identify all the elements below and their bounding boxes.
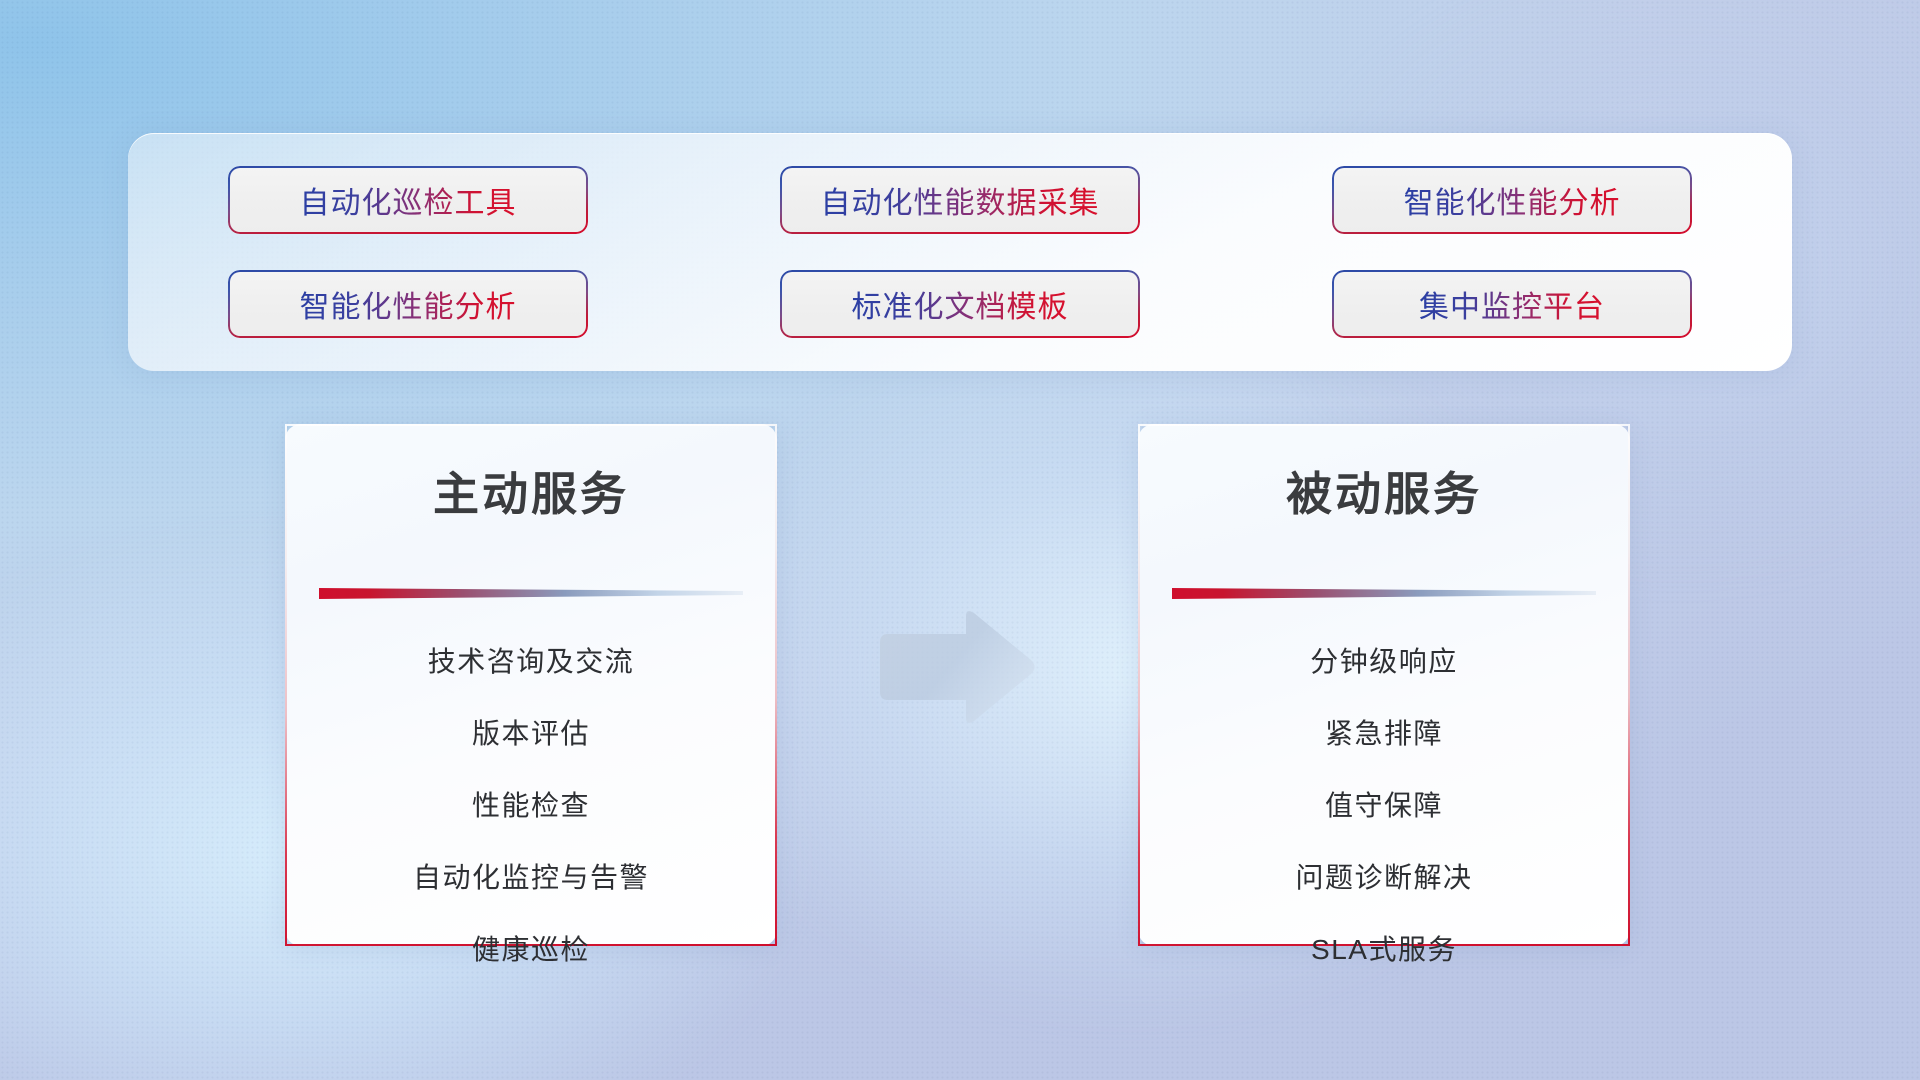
service-list-item: 值守保障 bbox=[1325, 770, 1443, 842]
service-list-item: 问题诊断解决 bbox=[1295, 842, 1472, 914]
capability-chip[interactable]: 智能化性能分析 bbox=[1332, 166, 1692, 234]
active-service-divider bbox=[319, 586, 743, 600]
capability-chip[interactable]: 智能化性能分析 bbox=[228, 270, 588, 338]
capability-chip-label: 智能化性能分析 bbox=[1404, 178, 1621, 222]
passive-service-divider bbox=[1172, 586, 1596, 600]
service-list-item: 分钟级响应 bbox=[1310, 626, 1458, 698]
capability-chip-label: 自动化性能数据采集 bbox=[821, 178, 1100, 222]
service-list-item: 健康巡检 bbox=[472, 914, 590, 986]
active-service-card-body: 主动服务 技术咨询及交流 版本评估 性能检查 bbox=[287, 426, 775, 944]
capability-chip-label: 自动化巡检工具 bbox=[300, 178, 517, 222]
service-list-item: 技术咨询及交流 bbox=[428, 626, 635, 698]
passive-service-title: 被动服务 bbox=[1286, 458, 1482, 524]
capability-chip-label: 标准化文档模板 bbox=[852, 282, 1069, 326]
passive-service-card: 被动服务 分钟级响应 紧急排障 值守保障 bbox=[1138, 424, 1630, 946]
right-arrow-icon bbox=[874, 608, 1038, 726]
service-list-item: 紧急排障 bbox=[1325, 698, 1443, 770]
capability-chip[interactable]: 集中监控平台 bbox=[1332, 270, 1692, 338]
capability-chip-label: 智能化性能分析 bbox=[300, 282, 517, 326]
service-list-item: 自动化监控与告警 bbox=[413, 842, 649, 914]
active-service-title: 主动服务 bbox=[433, 458, 629, 524]
service-list-item: 性能检查 bbox=[472, 770, 590, 842]
service-list-item: 版本评估 bbox=[472, 698, 590, 770]
active-service-card: 主动服务 技术咨询及交流 版本评估 性能检查 bbox=[285, 424, 777, 946]
capability-chip-grid: 自动化巡检工具 自动化性能数据采集 智能化性能分析 智能化性能分析 标准化文档模… bbox=[228, 166, 1692, 338]
active-service-list: 技术咨询及交流 版本评估 性能检查 自动化监控与告警 健康巡检 bbox=[287, 626, 775, 986]
capability-chip[interactable]: 自动化性能数据采集 bbox=[780, 166, 1140, 234]
capability-chip[interactable]: 自动化巡检工具 bbox=[228, 166, 588, 234]
passive-service-list: 分钟级响应 紧急排障 值守保障 问题诊断解决 SLA式服务 bbox=[1140, 626, 1628, 986]
capability-panel: 自动化巡检工具 自动化性能数据采集 智能化性能分析 智能化性能分析 标准化文档模… bbox=[128, 133, 1792, 371]
passive-service-card-body: 被动服务 分钟级响应 紧急排障 值守保障 bbox=[1140, 426, 1628, 944]
service-list-item: SLA式服务 bbox=[1311, 914, 1457, 986]
capability-chip[interactable]: 标准化文档模板 bbox=[780, 270, 1140, 338]
capability-chip-label: 集中监控平台 bbox=[1419, 282, 1605, 326]
